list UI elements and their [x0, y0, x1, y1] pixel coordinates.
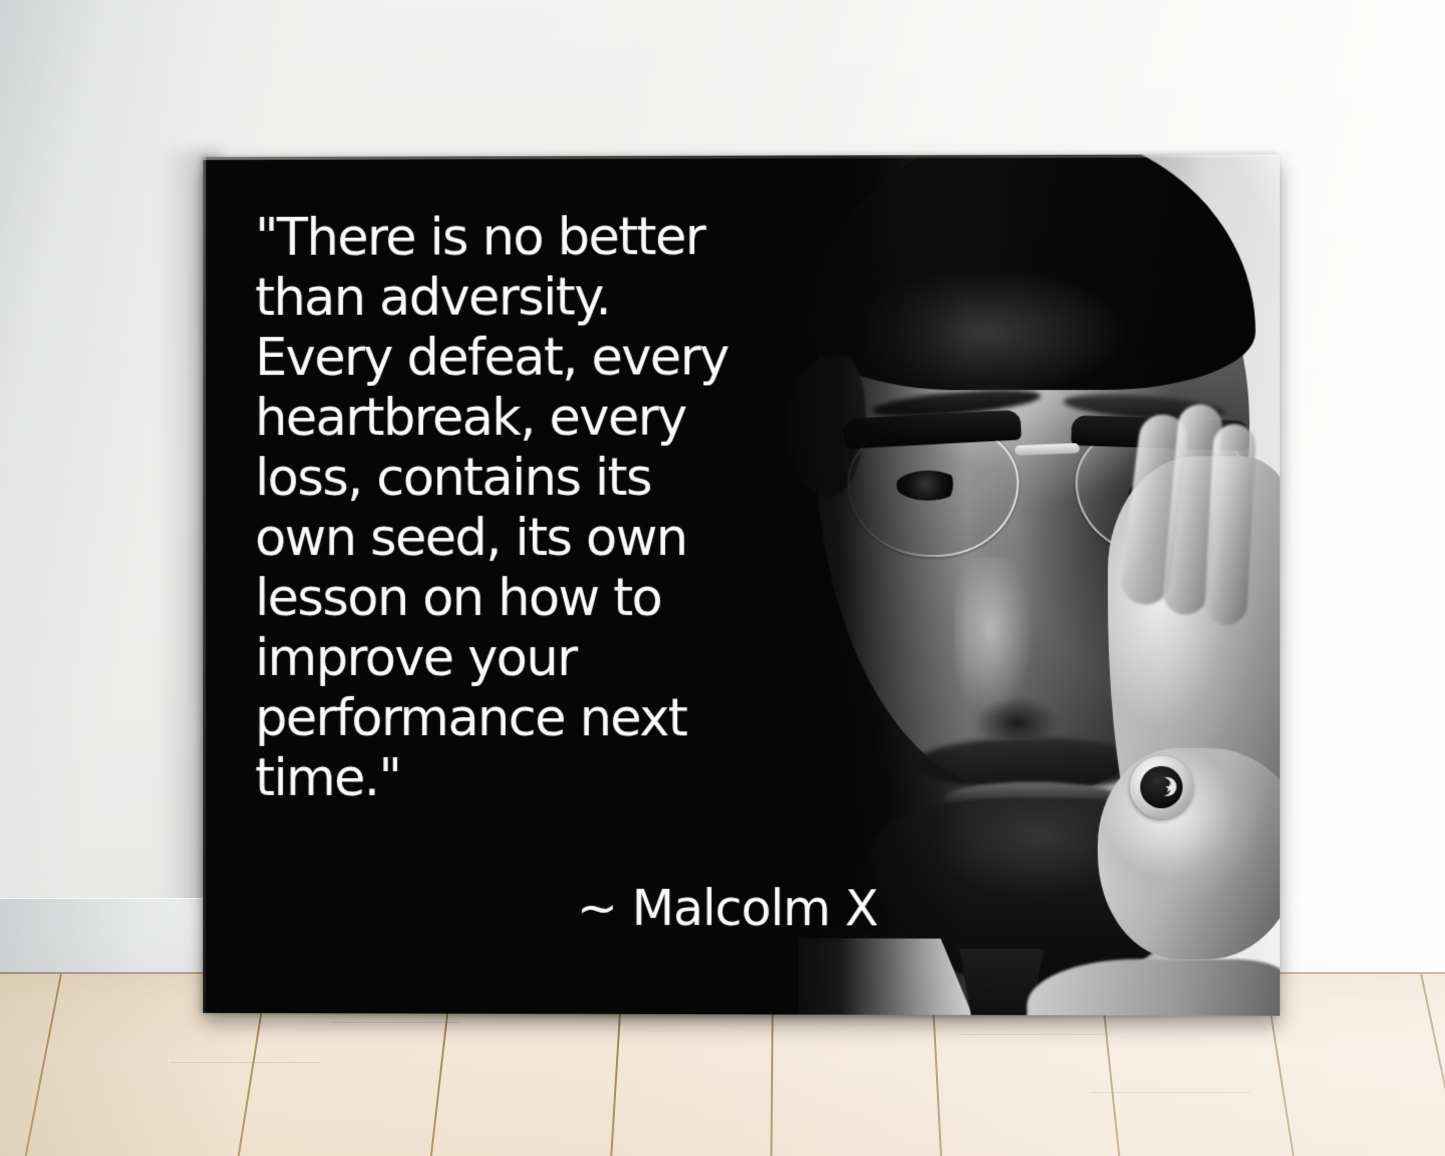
floor-plank-seam: [22, 974, 64, 1156]
portrait-nose: [954, 557, 1075, 738]
quote-line: Every defeat, every: [255, 328, 727, 389]
ring-face: ★: [1140, 766, 1182, 808]
quote-line: time.": [255, 749, 727, 810]
quote-line: "There is no better: [255, 208, 727, 269]
canvas-artwork[interactable]: ★ "There is no better than adversity. Ev…: [203, 154, 1280, 1016]
quote-line: improve your: [255, 629, 727, 689]
quote-line: than adversity.: [255, 268, 727, 329]
quote-text-block: "There is no better than adversity. Ever…: [255, 208, 727, 810]
scene-root: ★ "There is no better than adversity. Ev…: [0, 0, 1445, 1156]
quote-line: lesson on how to: [255, 569, 727, 629]
signet-ring: ★: [1130, 756, 1193, 818]
floor-plank-seam: [1418, 974, 1445, 1156]
quote-attribution: ~ Malcolm X: [255, 879, 878, 938]
quote-line: own seed, its own: [255, 509, 727, 569]
quote-line: performance next: [255, 689, 727, 749]
star-icon: ★: [1164, 781, 1176, 794]
floor-grain: [1090, 1092, 1250, 1093]
quote-line: loss, contains its: [255, 449, 727, 509]
floor-grain: [330, 1022, 460, 1023]
glasses-bridge: [1015, 443, 1080, 455]
floor-grain: [170, 1062, 320, 1063]
quote-line: heartbreak, every: [255, 388, 727, 449]
floor-grain: [960, 1034, 1110, 1035]
